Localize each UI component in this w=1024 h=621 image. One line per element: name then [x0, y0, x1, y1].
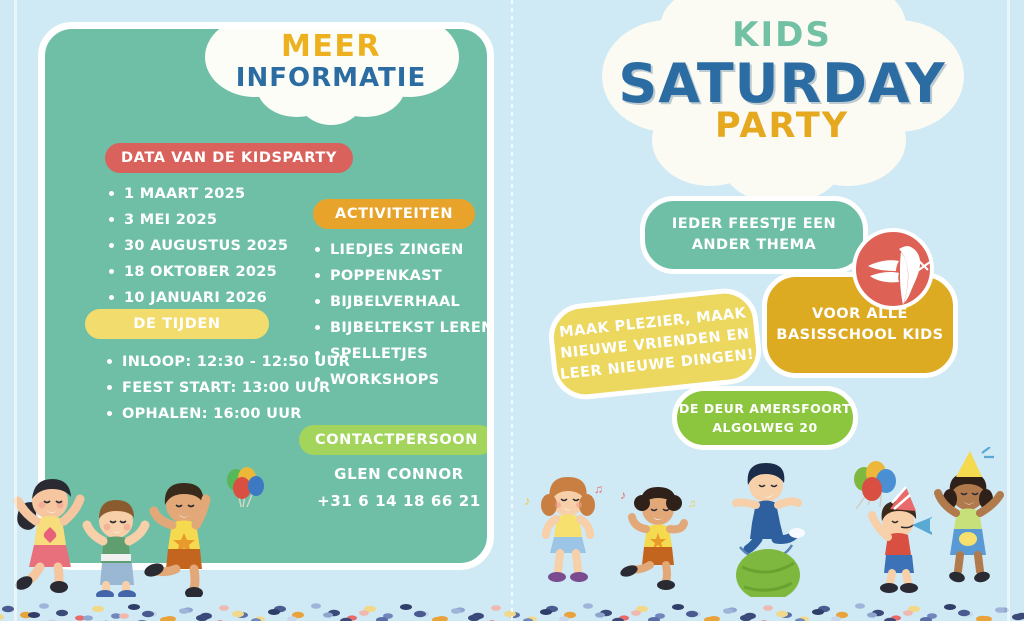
list-item: 1 MAART 2025 [107, 181, 288, 207]
contact-details: GLEN CONNOR +31 6 14 18 66 21 [299, 461, 494, 515]
list-item: OPHALEN: 16:00 UUR [105, 401, 350, 427]
badge-for-line2: BASISSCHOOL KIDS [776, 325, 943, 346]
list-item: 30 AUGUSTUS 2025 [107, 233, 288, 259]
list-dates: 1 MAART 2025 3 MEI 2025 30 AUGUSTUS 2025… [107, 181, 288, 311]
pill-dates[interactable]: DATA VAN DE KIDSPARTY [105, 143, 353, 173]
page-edge-left [14, 0, 17, 621]
pill-activities[interactable]: ACTIVITEITEN [313, 199, 475, 229]
list-item: 18 OKTOBER 2025 [107, 259, 288, 285]
list-item: 3 MEI 2025 [107, 207, 288, 233]
list-times: INLOOP: 12:30 - 12:50 UUR FEEST START: 1… [105, 349, 350, 427]
list-item: BIJBELVERHAAL [313, 289, 494, 315]
heading-line-1: MEER [197, 31, 465, 63]
pill-contact[interactable]: CONTACTPERSOON [299, 425, 494, 455]
badge-theme-line2: ANDER THEMA [672, 235, 836, 256]
contact-name: GLEN CONNOR [299, 461, 494, 488]
left-panel-heading: MEER INFORMATIE [197, 31, 465, 94]
badge-for-line1: VOOR ALLE [776, 304, 943, 325]
illustration-kids-left [6, 457, 256, 597]
illustration-kids-right: ♪ ♫ ♪ ♫ [516, 447, 1016, 597]
list-item: FEEST START: 13:00 UUR [105, 375, 350, 401]
kid-girl-party-hat [938, 447, 1000, 584]
contact-phone[interactable]: +31 6 14 18 66 21 [299, 488, 494, 515]
badge-address[interactable]: DE DEUR AMERSFOORT ALGOLWEG 20 [672, 386, 858, 450]
church-angel-logo-icon[interactable] [852, 228, 934, 310]
kid-girl-heart [13, 479, 80, 593]
kid-boy-jumping-ball [736, 463, 805, 597]
list-item: LIEDJES ZINGEN [313, 237, 494, 263]
list-item: POPPENKAST [313, 263, 494, 289]
svg-text:♫: ♫ [594, 482, 603, 496]
list-item: BIJBELTEKST LEREN [313, 315, 494, 341]
svg-text:♫: ♫ [688, 498, 696, 510]
kid-girl-singing: ♪ ♫ [524, 477, 603, 582]
list-item: 10 JANUARI 2026 [107, 285, 288, 311]
heading-line-2: INFORMATIE [197, 63, 465, 94]
badge-addr-line1: DE DEUR AMERSFOORT [679, 399, 851, 418]
pill-times[interactable]: DE TIJDEN [85, 309, 269, 339]
svg-text:♪: ♪ [620, 488, 626, 502]
list-item: INLOOP: 12:30 - 12:50 UUR [105, 349, 350, 375]
poster-canvas: MEER INFORMATIE DATA VAN DE KIDSPARTY 1 … [0, 0, 1024, 621]
page-edge-right [1007, 0, 1010, 621]
fold-line [511, 0, 513, 621]
badge-theme-line1: IEDER FEESTJE EEN [672, 214, 836, 235]
badge-theme[interactable]: IEDER FEESTJE EEN ANDER THEMA [640, 196, 868, 274]
badge-addr-line2: ALGOLWEG 20 [679, 418, 851, 437]
kid-boy-dancing: ♪ ♫ [619, 487, 696, 590]
cloud-shape-right [598, 0, 966, 212]
kid-boy-horn-balloons [854, 461, 938, 593]
svg-text:♪: ♪ [524, 493, 531, 508]
